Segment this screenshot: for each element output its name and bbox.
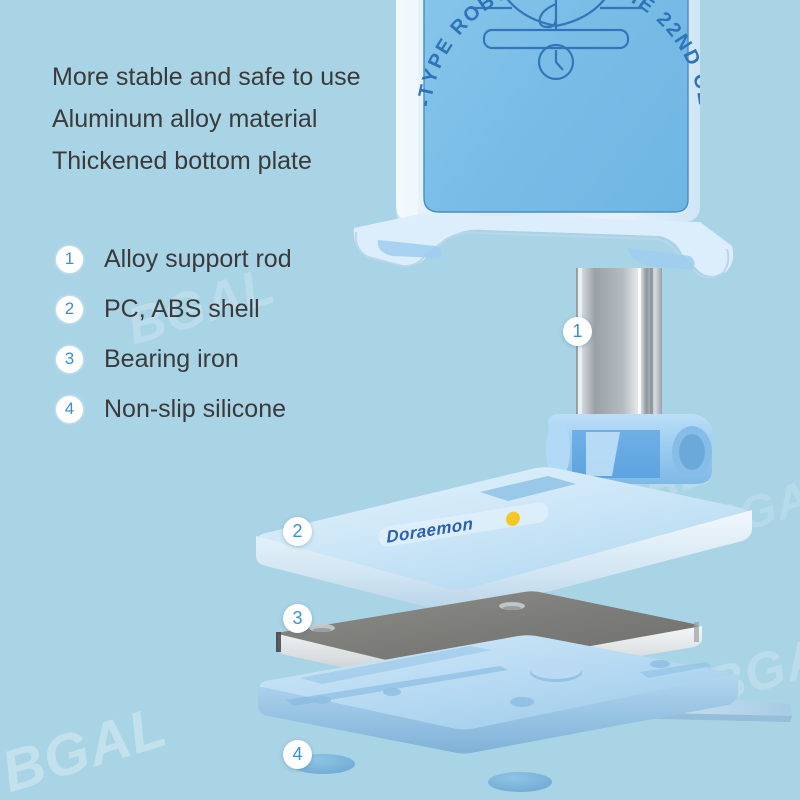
feature-label-4: Non-slip silicone xyxy=(104,395,286,424)
base-screw-hole-c xyxy=(313,696,331,704)
feature-item-4: 4 Non-slip silicone xyxy=(56,384,292,434)
feature-item-3: 3 Bearing iron xyxy=(56,334,292,384)
feature-label-1: Alloy support rod xyxy=(104,245,292,274)
feature-label-3: Bearing iron xyxy=(104,345,239,374)
callout-badge-3: 3 xyxy=(283,604,312,633)
infographic-canvas: BGAL BGAL BGAL BGAL BGAL BGAL xyxy=(0,0,800,800)
pc-abs-shell-plate: Doraemon xyxy=(256,467,752,613)
feature-badge-2: 2 xyxy=(56,296,83,323)
feature-badge-4: 4 xyxy=(56,396,83,423)
phone-panel: -TYPE ROBOT FROM THE 22ND CE xyxy=(396,0,716,222)
feature-badge-3: 3 xyxy=(56,346,83,373)
callout-badge-4: 4 xyxy=(283,740,312,769)
headline-line-1: More stable and safe to use xyxy=(52,56,361,98)
feature-list: 1 Alloy support rod 2 PC, ABS shell 3 Be… xyxy=(56,234,292,434)
iron-plate-corner-left xyxy=(276,632,281,652)
rod-groove xyxy=(650,268,653,420)
feature-badge-1: 1 xyxy=(56,246,83,273)
base-screw-hole-a xyxy=(510,697,534,707)
feature-item-2: 2 PC, ABS shell xyxy=(56,284,292,334)
callout-badge-1: 1 xyxy=(563,317,592,346)
alloy-support-rod xyxy=(576,268,662,420)
feature-label-2: PC, ABS shell xyxy=(104,295,260,324)
base-boss-center-top xyxy=(530,659,582,679)
silicone-pad-right xyxy=(488,772,552,792)
hinge-cap-inner xyxy=(679,434,705,470)
feature-item-1: 1 Alloy support rod xyxy=(56,234,292,284)
phone-shell-highlight xyxy=(396,0,418,222)
non-slip-silicone-pads xyxy=(291,754,552,792)
headline-line-2: Aluminum alloy material xyxy=(52,98,361,140)
headline-block: More stable and safe to use Aluminum all… xyxy=(52,56,361,182)
iron-plate-corner-right xyxy=(694,622,699,642)
base-screw-hole-d xyxy=(650,660,670,668)
base-screw-hole-b xyxy=(383,688,401,696)
phone-cradle xyxy=(354,214,733,277)
rod-highlight-mid xyxy=(638,268,641,420)
callout-badge-2: 2 xyxy=(283,517,312,546)
rod-body xyxy=(576,268,662,420)
headline-line-3: Thickened bottom plate xyxy=(52,140,361,182)
